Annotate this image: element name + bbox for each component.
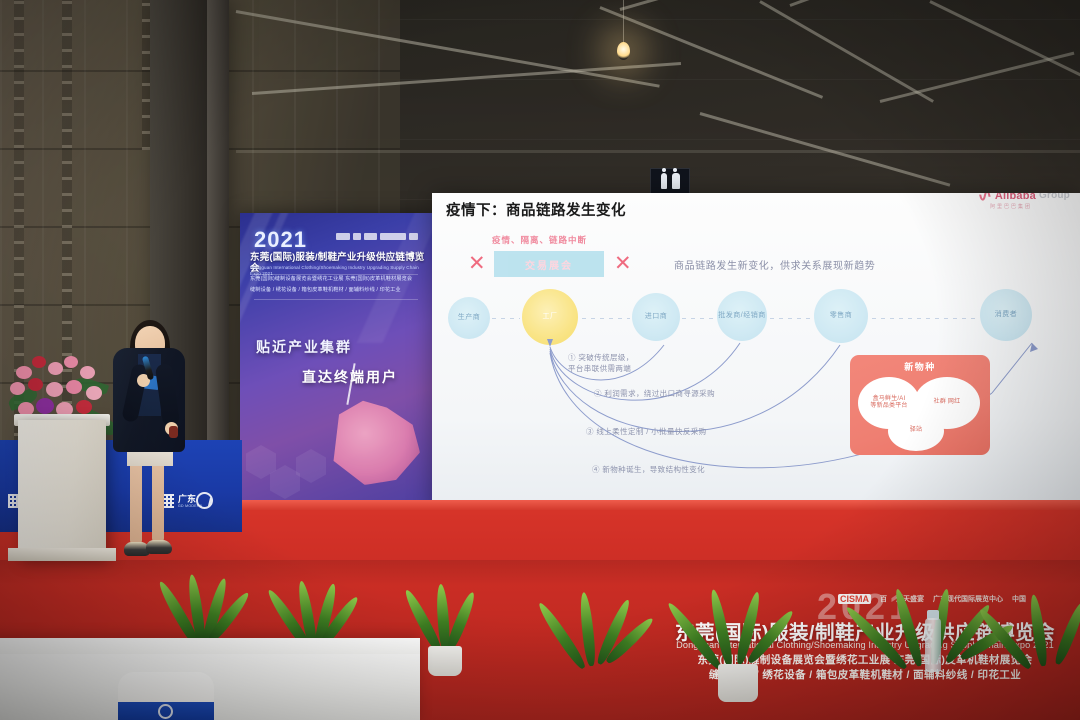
event-backdrop-banner: 2021 东莞(国际)服装/制鞋产业升级供应链博览会 Dongguan Inte… [240,213,432,513]
flower-blossom [10,382,25,395]
backdrop-divider [254,299,418,300]
speaker-legs [128,452,170,562]
backdrop-slogan-primary: 贴近产业集群 [256,337,352,357]
flow-label-1: ① 突破传统层级， 平台串联供需两端 [568,353,634,375]
slide-warning-text: 疫情、隔离、链路中断 [492,234,587,246]
chain-node-retailer: 零售商 [814,289,868,343]
podium-base [8,548,116,561]
new-species-title: 新物种 [850,360,990,373]
flower-blossom [66,380,82,394]
backdrop-badge [364,233,377,240]
backdrop-subtitle-2: 缝制设备 / 绣花设备 / 箱包皮革鞋机鞋材 / 面辅料纱线 / 印花工业 [250,286,425,295]
presentation-clicker [169,426,178,438]
backdrop-subtitle-1: 东莞(国际)缝制设备展览会暨绣花工业展 东莞(国际)皮革机鞋材展览会 [250,275,425,284]
new-species-box: 新物种 盒马鲜生/AI 等新品类平台 社群 网红 驿站 [850,355,990,455]
alibaba-logo-suffix: Group [1039,193,1070,201]
alibaba-logo-name: Alibaba [995,193,1036,202]
slide-headline: 商品链路发生新变化，供求关系展现新趋势 [674,257,875,272]
speaker-podium [18,420,106,558]
plant-leaf [444,590,477,652]
presentation-scene-photo: 2021 东莞(国际)服装/制鞋产业升级供应链博览会 Dongguan Inte… [0,0,1080,720]
foreground-plant [1008,592,1080,720]
chain-node-label: 批发商/经销商 [718,312,765,320]
backdrop-badge [353,233,361,240]
foreground-plant [548,590,638,720]
chain-node-wholesaler: 批发商/经销商 [717,291,767,341]
flow-label-2: ② 利润需求，绕过出口商寻源采购 [594,389,715,400]
cross-mark-right-icon: ✕ [614,251,632,276]
flower-blossom [76,400,92,414]
chain-node-label: 工厂 [543,313,558,321]
speaker-shoe [146,540,172,554]
restroom-sign [650,168,690,194]
backdrop-garment-image [328,399,420,485]
flower-blossom [86,386,102,400]
backdrop-badge [380,233,406,240]
flower-blossom [16,366,32,379]
chain-node-label: 消费者 [995,311,1018,319]
chain-connector [682,318,716,319]
lamp-wire [623,0,624,44]
plant-leaf [1052,601,1080,666]
chain-node-consumer: 消费者 [980,289,1032,341]
flower-blossom [32,356,46,368]
flow-label-4: ④ 新物种诞生，导致结构性变化 [592,465,705,476]
chain-connector [872,318,978,319]
restroom-figure-icon [672,173,680,189]
slide-title: 疫情下：商品链路发生变化 [446,199,626,220]
flower-blossom [48,362,63,375]
restroom-figure-icon [661,173,667,189]
partner-ring-logo [196,492,213,509]
sponsor-logo-cisma: CISMA [838,594,871,604]
flower-blossom [36,398,54,414]
speaker-leg [130,452,142,546]
water-bottle [925,618,941,672]
plant-leaf [1028,594,1049,667]
cross-mark-left-icon: ✕ [468,251,486,276]
chain-node-label: 进口商 [645,313,668,321]
chain-connector [770,318,812,319]
chain-node-importer: 进口商 [632,293,680,341]
alibaba-logo-chinese: 阿里巴巴集团 [990,203,1032,210]
chair-buckle [158,704,173,719]
ceiling-lamp [617,42,630,60]
speaker-figure [113,330,185,460]
backdrop-hex [296,449,326,483]
flower-blossom [28,378,43,391]
backdrop-badge [409,233,418,240]
backdrop-badge [336,233,350,240]
projection-screen: 疫情下：商品链路发生变化 ∿ Alibaba Group 阿里巴巴集团 疫情、隔… [432,193,1080,513]
backdrop-badge-row [336,233,418,240]
chain-connector [582,318,630,319]
flower-blossom [46,382,63,397]
chain-connector [492,318,520,319]
plant-pot [428,646,462,676]
chain-node-label: 生产商 [458,314,481,322]
flow-label-3: ③ 线上柔性定制 / 小批量快反采购 [586,427,707,438]
plant-pot [718,664,758,702]
blocked-trade-expo-box: 交易展会 [494,251,604,277]
flower-blossom [64,356,78,368]
new-species-item: 驿站 [888,411,944,451]
flower-blossom [80,366,95,379]
chain-node-factory: 工厂 [522,289,578,345]
foreground-table-top [0,638,420,654]
chain-node-label: 零售商 [830,312,853,320]
foreground-plant [680,586,790,720]
roof-beam [236,150,1080,153]
chain-node-producer: 生产商 [448,297,490,339]
backdrop-year: 2021 [254,227,414,253]
